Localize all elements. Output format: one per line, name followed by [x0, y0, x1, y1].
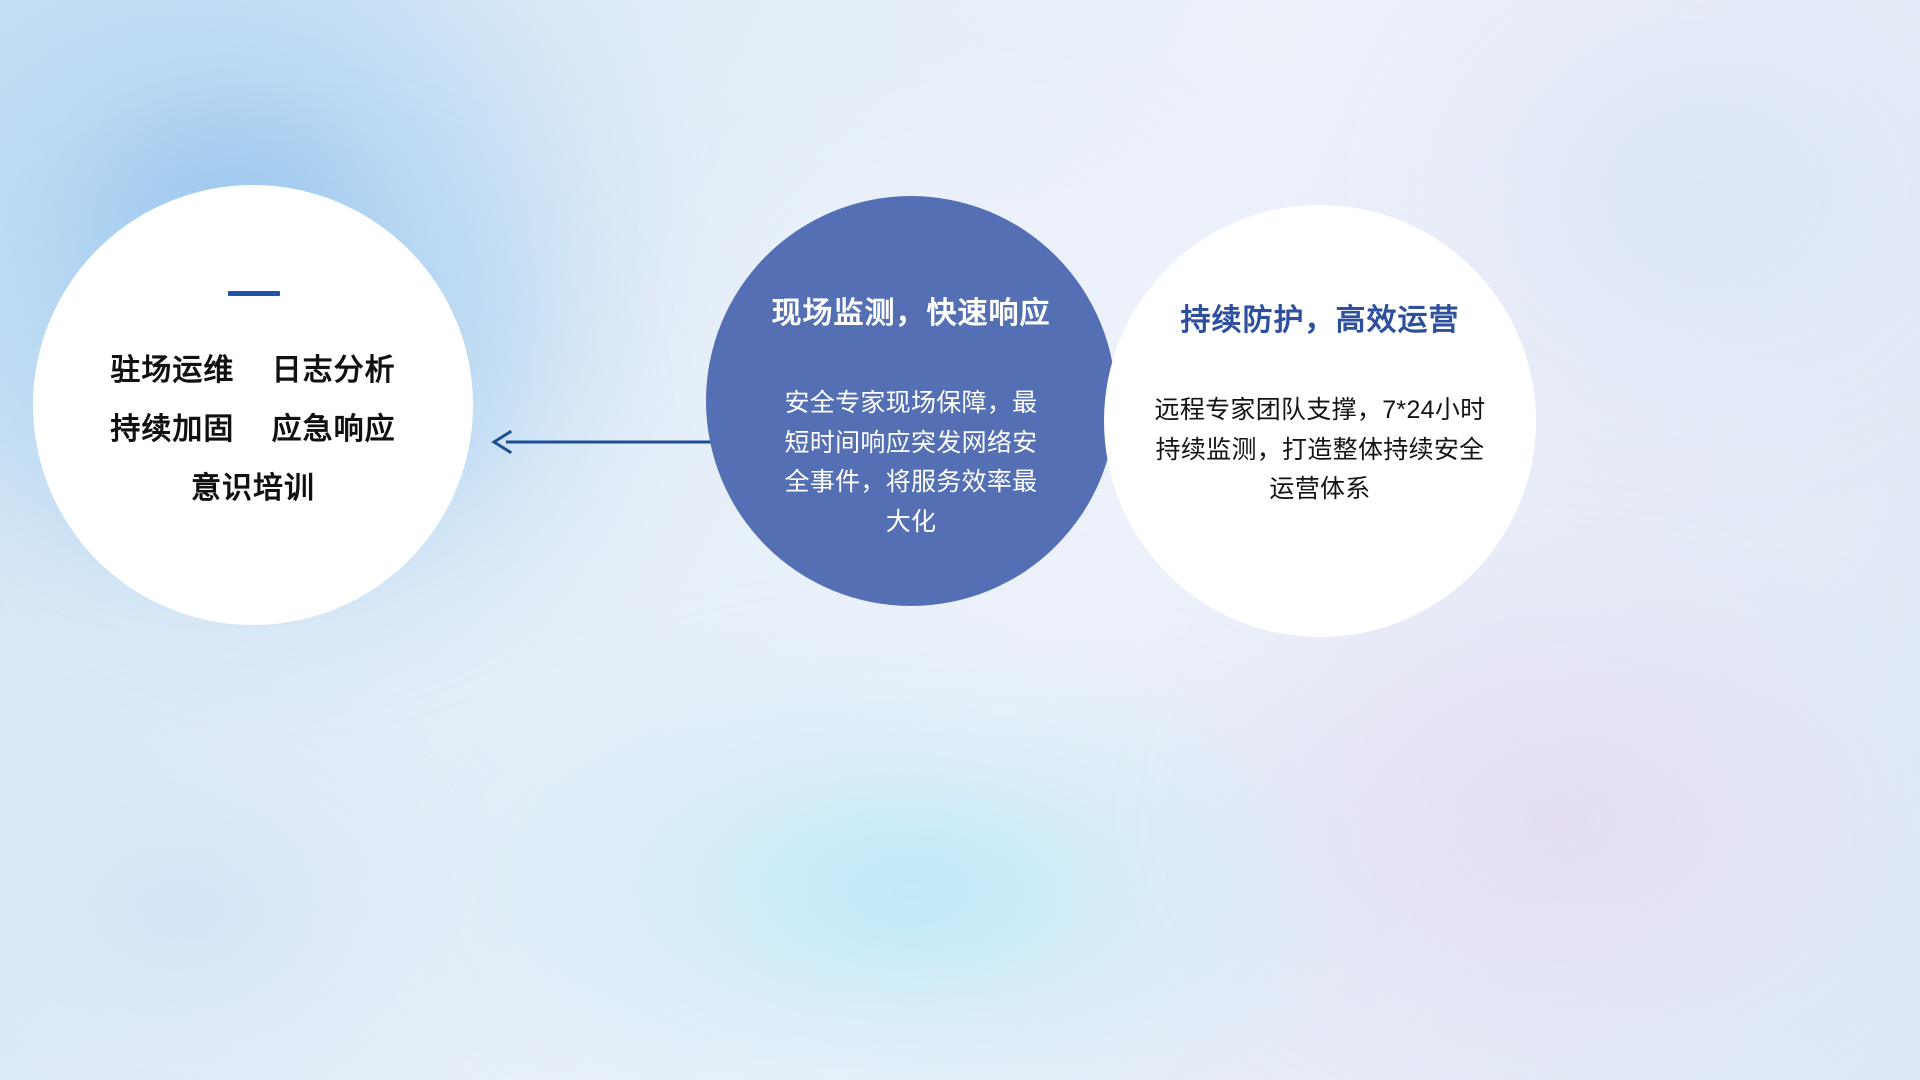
left-summary-line-1: 驻场运维 日志分析	[110, 342, 395, 401]
left-summary-line-3: 意识培训	[110, 460, 395, 519]
card-body-continuous-protection: 远程专家团队支撑，7*24小时持续监测，打造整体持续安全运营体系	[1145, 391, 1495, 510]
card-continuous-protection: 持续防护，高效运营 远程专家团队支撑，7*24小时持续监测，打造整体持续安全运营…	[1104, 205, 1536, 637]
card-body-onsite-monitoring: 安全专家现场保障，最短时间响应突发网络安全事件，将服务效率最大化	[777, 384, 1045, 542]
left-summary-line-2: 持续加固 应急响应	[110, 401, 395, 460]
left-summary-lines: 驻场运维 日志分析 持续加固 应急响应 意识培训	[110, 342, 395, 518]
accent-divider-icon	[228, 291, 280, 296]
card-left-summary: 驻场运维 日志分析 持续加固 应急响应 意识培训	[33, 185, 473, 625]
slide-canvas: 驻场运维 日志分析 持续加固 应急响应 意识培训 现场监测，快速响应 安全专家现…	[0, 0, 1920, 1080]
card-title-continuous-protection: 持续防护，高效运营	[1181, 295, 1460, 339]
card-title-onsite-monitoring: 现场监测，快速响应	[772, 288, 1051, 332]
card-onsite-monitoring: 现场监测，快速响应 安全专家现场保障，最短时间响应突发网络安全事件，将服务效率最…	[706, 196, 1116, 606]
left-pointing-arrow	[488, 424, 720, 460]
background-glow-bottom-left	[0, 700, 500, 1080]
background-glow-bottom-right	[1180, 560, 1920, 1080]
